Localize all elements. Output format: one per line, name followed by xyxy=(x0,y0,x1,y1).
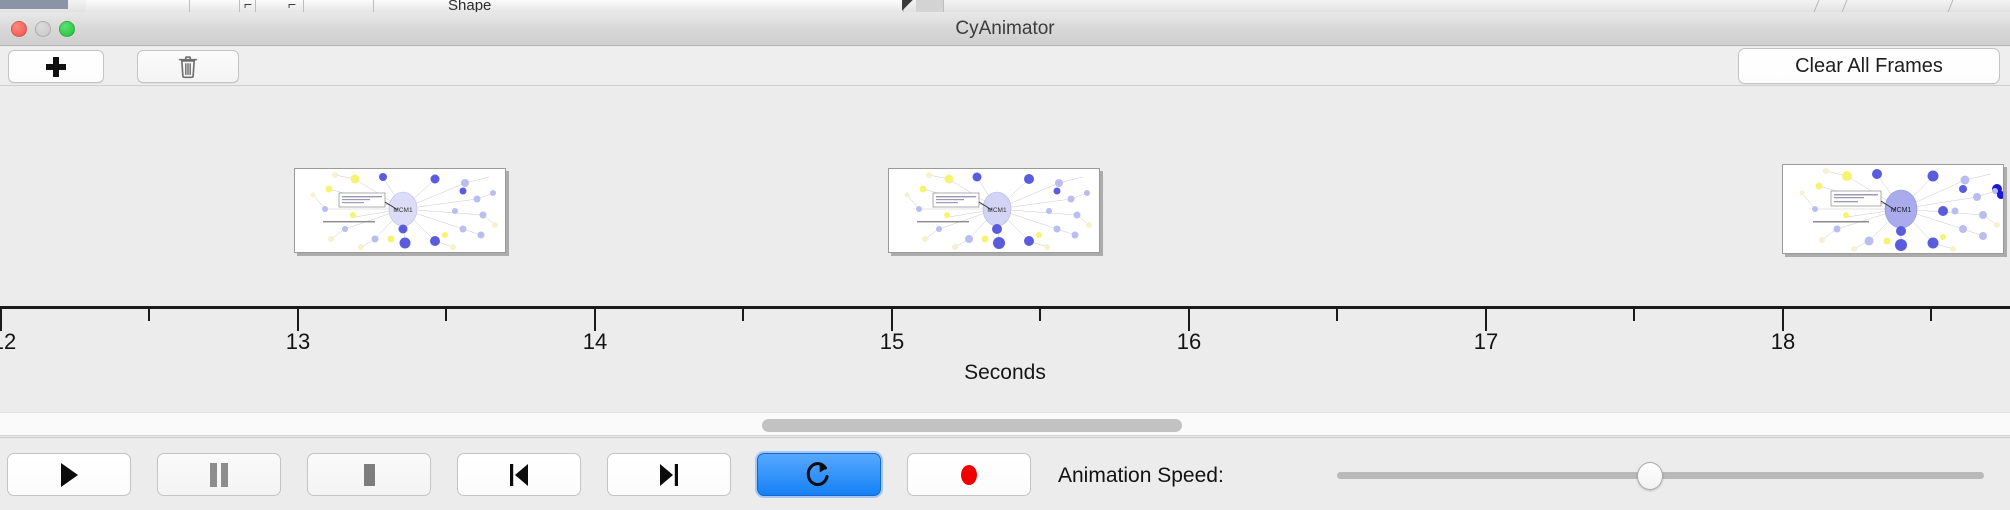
timeline-frame-2[interactable]: MCM1 xyxy=(888,168,1100,253)
play-icon xyxy=(56,461,82,489)
toolbar: Clear All Frames xyxy=(0,46,2010,86)
add-frame-button[interactable] xyxy=(8,50,104,83)
background-divider-2 xyxy=(1842,0,1848,12)
cyanimator-window: ⌐ ⌐ Shape ◤ CyAnimator xyxy=(0,0,2010,510)
timeline-axis xyxy=(0,306,2010,309)
background-tab-5 xyxy=(304,0,374,12)
background-tab-2 xyxy=(190,0,240,12)
timeline-panel[interactable]: MCM1 xyxy=(0,86,2010,406)
pause-button[interactable] xyxy=(157,453,281,496)
network-thumbnail: MCM1 xyxy=(295,169,505,252)
background-tab-1 xyxy=(86,0,190,12)
axis-label-15: 15 xyxy=(880,329,904,355)
axis-label-12: 12 xyxy=(0,329,16,355)
stop-button[interactable] xyxy=(307,453,431,496)
axis-label-18: 18 xyxy=(1771,329,1795,355)
axis-tick-minor-1 xyxy=(148,309,150,321)
background-window-label: Shape xyxy=(448,0,491,12)
svg-text:MCM1: MCM1 xyxy=(1891,207,1912,214)
svg-text:MCM1: MCM1 xyxy=(393,207,413,214)
background-divider-3 xyxy=(1948,0,1954,12)
axis-tick-17 xyxy=(1485,309,1487,331)
axis-label-17: 17 xyxy=(1474,329,1498,355)
clear-all-frames-button[interactable]: Clear All Frames xyxy=(1738,48,2000,84)
timeline-scrollbar-thumb[interactable] xyxy=(762,419,1182,432)
axis-tick-16 xyxy=(1188,309,1190,331)
record-button[interactable] xyxy=(907,453,1031,496)
animation-speed-label: Animation Speed: xyxy=(1058,464,1224,488)
network-thumbnail: MCM1 xyxy=(1783,165,2003,253)
background-window-strip: ⌐ ⌐ Shape ◤ xyxy=(0,0,2010,12)
loop-button[interactable] xyxy=(757,453,881,496)
axis-tick-minor-5 xyxy=(1336,309,1338,321)
skip-forward-button[interactable] xyxy=(607,453,731,496)
axis-tick-minor-6 xyxy=(1633,309,1635,321)
axis-tick-15 xyxy=(891,309,893,331)
axis-tick-14 xyxy=(594,309,596,331)
plus-icon xyxy=(46,57,66,77)
axis-label-14: 14 xyxy=(583,329,607,355)
axis-tick-12 xyxy=(0,309,2,331)
skip-forward-icon xyxy=(656,461,682,489)
axis-label-13: 13 xyxy=(286,329,310,355)
window-title: CyAnimator xyxy=(0,12,2010,46)
play-button[interactable] xyxy=(7,453,131,496)
axis-tick-18 xyxy=(1782,309,1784,331)
axis-tick-minor-7 xyxy=(1930,309,1932,321)
background-glyph-bracket: ⌐ xyxy=(244,0,252,12)
background-tab-4 xyxy=(256,0,304,12)
background-glyph-caret: ◤ xyxy=(902,0,913,12)
clear-all-frames-label: Clear All Frames xyxy=(1795,55,1943,78)
background-tab-7 xyxy=(916,0,944,12)
background-window-titlebar xyxy=(0,0,68,9)
trash-icon xyxy=(177,55,199,79)
record-icon xyxy=(957,461,981,489)
background-glyph-bar: ⌐ xyxy=(288,0,296,12)
axis-tick-minor-3 xyxy=(742,309,744,321)
timeline-scrollbar[interactable] xyxy=(0,412,2010,436)
skip-back-button[interactable] xyxy=(457,453,581,496)
axis-title: Seconds xyxy=(0,361,2010,385)
pause-icon xyxy=(207,461,231,489)
background-divider-1 xyxy=(1814,0,1820,12)
network-thumbnail: MCM1 xyxy=(889,169,1099,252)
titlebar[interactable]: CyAnimator xyxy=(0,12,2010,46)
playback-bar: Animation Speed: xyxy=(0,437,2010,510)
animation-speed-slider-knob[interactable] xyxy=(1637,462,1663,490)
skip-back-icon xyxy=(506,461,532,489)
stop-icon xyxy=(357,461,381,489)
axis-tick-minor-2 xyxy=(445,309,447,321)
axis-label-16: 16 xyxy=(1177,329,1201,355)
axis-tick-13 xyxy=(297,309,299,331)
axis-tick-minor-4 xyxy=(1039,309,1041,321)
delete-frame-button[interactable] xyxy=(137,50,239,83)
svg-text:MCM1: MCM1 xyxy=(987,207,1007,214)
loop-icon xyxy=(805,460,833,490)
timeline-frame-1[interactable]: MCM1 xyxy=(294,168,506,253)
timeline-frame-3[interactable]: MCM1 xyxy=(1782,164,2004,254)
